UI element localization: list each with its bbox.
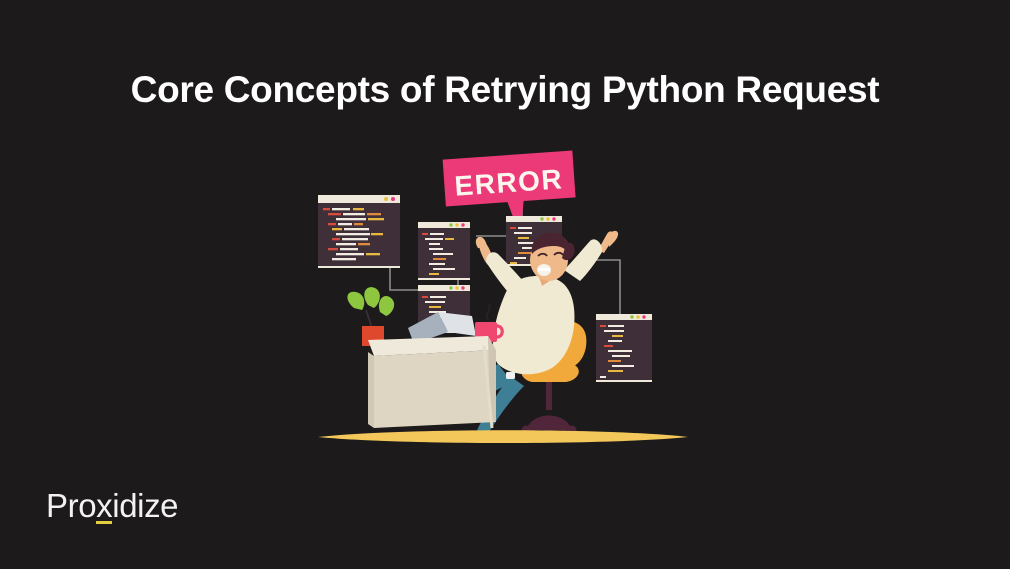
desk-plant [347,287,394,346]
brand-logo-accent-underline [96,521,112,524]
frustrated-developer-error-illustration: ERROR [310,140,700,450]
brand-logo[interactable]: Proxidize [46,487,178,525]
code-window-right [596,314,652,382]
page-canvas: Core Concepts of Retrying Python Request… [0,0,1010,569]
code-window-left [318,195,400,268]
code-window-center [418,222,470,280]
hero-illustration: Developer at a desk with arms raised in … [310,140,700,450]
brand-logo-accent-wrap: x [96,487,112,525]
page-title: Core Concepts of Retrying Python Request [0,69,1010,111]
brand-logo-prefix: Pro [46,487,96,524]
brand-logo-accent: x [96,487,112,524]
brand-logo-suffix: idize [112,487,178,524]
ground-line [318,430,688,443]
desk [368,336,496,428]
